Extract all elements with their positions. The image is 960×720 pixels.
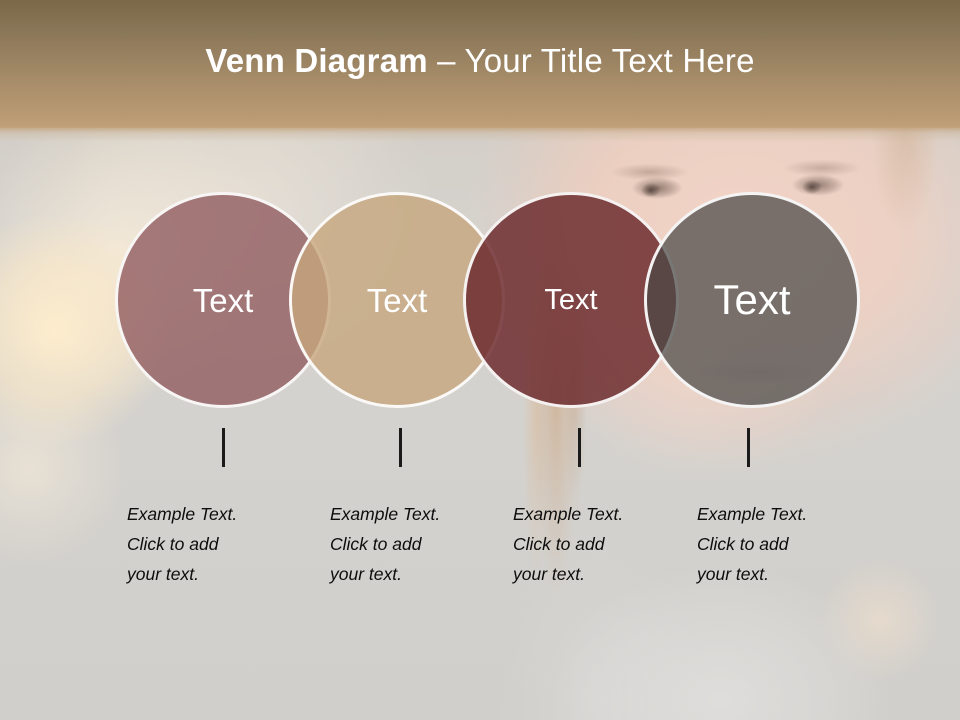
caption-3-line-3: your text. — [513, 559, 673, 589]
venn-circle-4[interactable]: Text — [644, 192, 860, 408]
venn-circle-3-label: Text — [544, 286, 597, 315]
title-banner-fade — [0, 126, 960, 142]
caption-4[interactable]: Example Text. Click to add your text. — [697, 499, 857, 589]
venn-circle-2-label: Text — [367, 284, 428, 317]
caption-2-line-1: Example Text. — [330, 499, 490, 529]
caption-3-line-2: Click to add — [513, 529, 673, 559]
caption-3-line-1: Example Text. — [513, 499, 673, 529]
caption-1-line-2: Click to add — [127, 529, 287, 559]
page-title-regular: Your Title Text Here — [465, 42, 755, 79]
venn-circle-1-label: Text — [193, 284, 254, 317]
caption-2-line-2: Click to add — [330, 529, 490, 559]
venn-circle-4-label: Text — [713, 279, 790, 321]
caption-1-line-3: your text. — [127, 559, 287, 589]
connector-tick-2 — [399, 428, 402, 467]
caption-4-line-2: Click to add — [697, 529, 857, 559]
caption-4-line-1: Example Text. — [697, 499, 857, 529]
caption-4-line-3: your text. — [697, 559, 857, 589]
slide-canvas: Venn Diagram – Your Title Text Here Text… — [0, 0, 960, 720]
page-title-separator: – — [428, 42, 465, 79]
connector-tick-3 — [578, 428, 581, 467]
connector-tick-4 — [747, 428, 750, 467]
caption-1-line-1: Example Text. — [127, 499, 287, 529]
caption-1[interactable]: Example Text. Click to add your text. — [127, 499, 287, 589]
page-title-bold: Venn Diagram — [205, 42, 427, 79]
connector-tick-1 — [222, 428, 225, 467]
caption-2[interactable]: Example Text. Click to add your text. — [330, 499, 490, 589]
caption-2-line-3: your text. — [330, 559, 490, 589]
caption-3[interactable]: Example Text. Click to add your text. — [513, 499, 673, 589]
page-title[interactable]: Venn Diagram – Your Title Text Here — [0, 41, 960, 81]
